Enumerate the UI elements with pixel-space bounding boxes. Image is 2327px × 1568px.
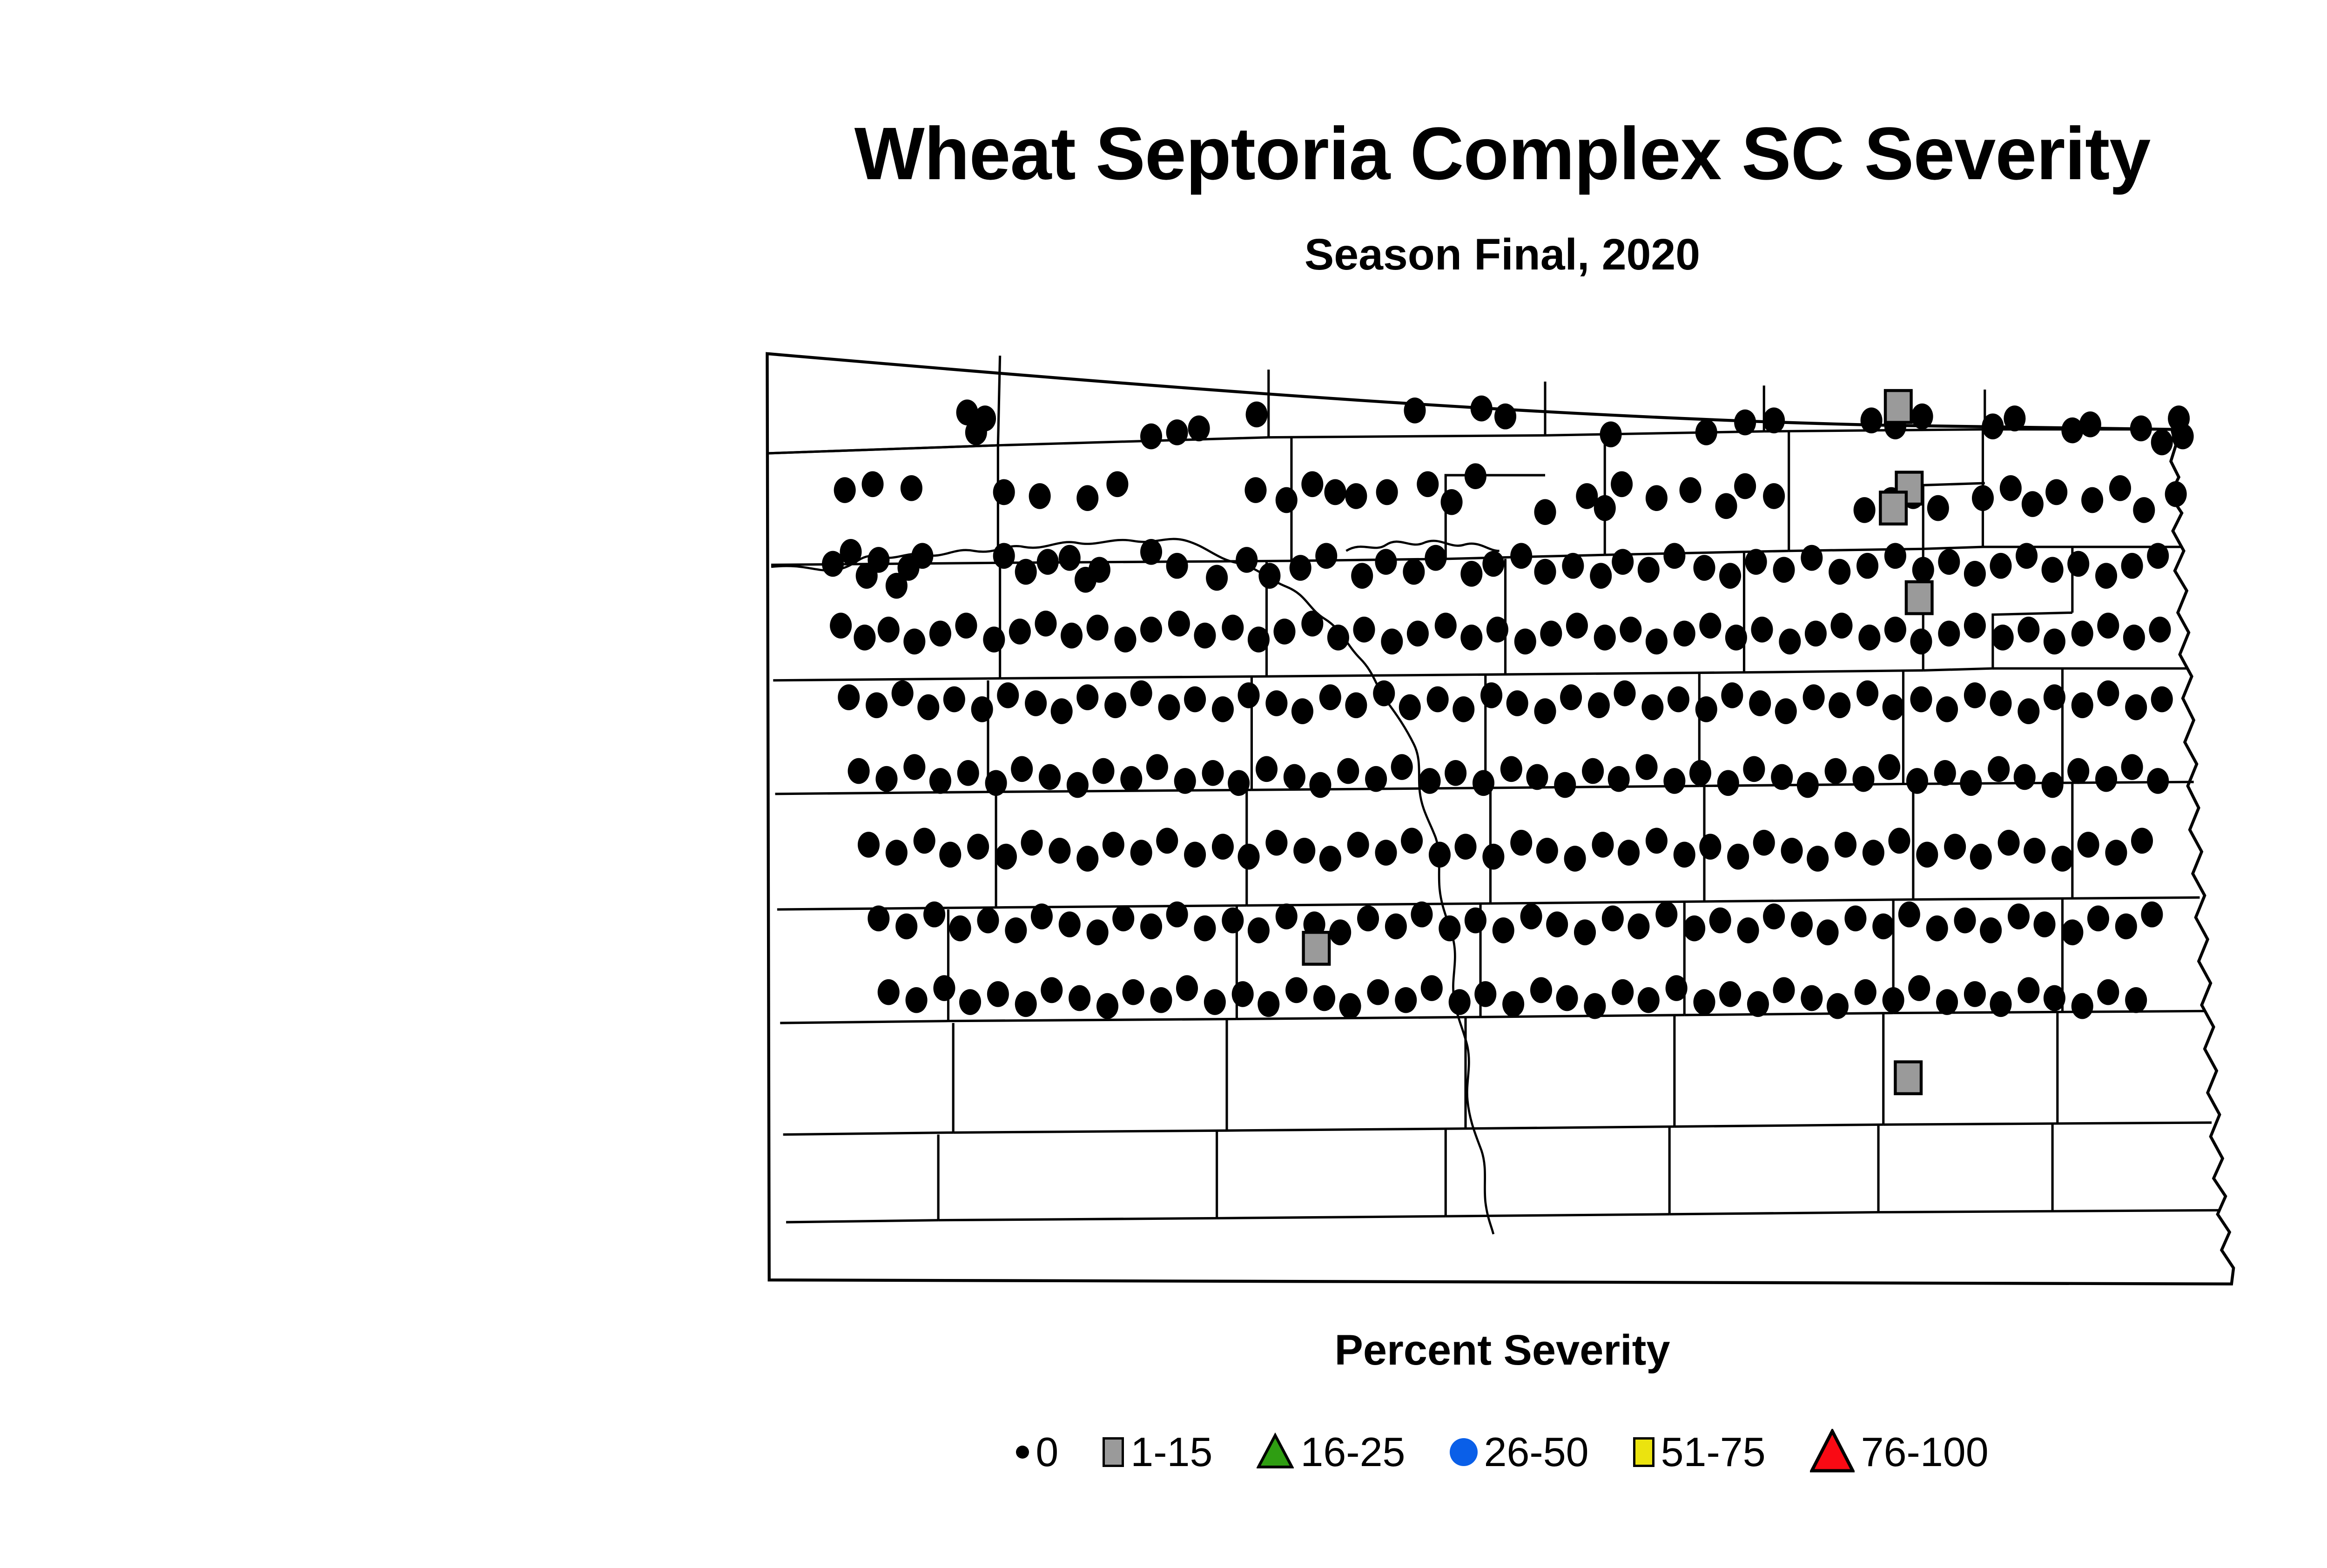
map-point-severity-0 (933, 975, 955, 1001)
map-point-severity-0 (1911, 404, 1933, 430)
map-point-severity-0 (1636, 754, 1658, 780)
map-point-severity-0 (1592, 832, 1614, 858)
map-point-severity-0 (1265, 690, 1287, 716)
map-point-severity-0 (1313, 985, 1335, 1011)
map-point-severity-0 (1104, 693, 1126, 719)
map-point-severity-0 (875, 766, 897, 792)
map-point-severity-0 (2133, 497, 2155, 523)
map-point-severity-0 (2105, 840, 2127, 866)
legend-label-16-25: 16-25 (1300, 1432, 1405, 1473)
map-point-severity-0 (1646, 485, 1668, 511)
map-point-severity-0 (1453, 696, 1474, 722)
legend-item-76-100[interactable]: 76-100 (1810, 1429, 1989, 1476)
map-point-severity-0 (929, 768, 951, 794)
map-point-severity-0 (1829, 693, 1850, 719)
map-point-severity-0 (2024, 838, 2045, 864)
map-point-severity-0 (987, 981, 1009, 1007)
map-point-severity-0 (1212, 696, 1234, 722)
map-point-severity-0 (1103, 832, 1124, 858)
map-point-severity-0 (1912, 557, 1934, 583)
map-point-severity-0 (1188, 416, 1210, 442)
map-point-severity-0 (903, 754, 925, 780)
map-point-severity-0 (1204, 989, 1226, 1015)
map-point-severity-0 (1530, 977, 1552, 1003)
map-point-severity-0 (1797, 772, 1819, 798)
map-point-severity-0 (1092, 758, 1114, 784)
map-point-severity-0 (1926, 915, 1948, 942)
map-point-severity-0 (1663, 543, 1685, 569)
map-point-severity-0 (1031, 903, 1053, 929)
map-point-severity-0 (1719, 981, 1741, 1007)
map-point-severity-0 (1140, 617, 1162, 643)
map-point-severity-0 (2081, 487, 2103, 513)
map-point-severity-0 (1964, 612, 1986, 639)
map-point-severity-0 (2022, 491, 2044, 517)
map-point-severity-0 (1594, 625, 1616, 651)
map-point-severity-0 (1781, 838, 1803, 864)
map-point-severity-0 (2151, 686, 2173, 713)
map-point-severity-0 (1763, 483, 1785, 509)
map-point-severity-0 (1988, 756, 2010, 782)
map-point-severity-0 (1011, 756, 1033, 782)
map-point-severity-0 (1695, 696, 1717, 722)
map-point-severity-0 (858, 832, 880, 858)
map-point-severity-0 (1228, 770, 1250, 796)
map-point-severity-0 (1184, 686, 1206, 713)
map-point-severity-0 (1590, 563, 1612, 589)
map-point-severity-0 (2061, 919, 2083, 945)
map-point-severity-0 (1471, 396, 1493, 422)
map-point-severity-0 (1156, 828, 1178, 854)
map-point-severity-0 (1076, 684, 1098, 710)
map-point-severity-0 (1749, 690, 1771, 716)
map-point-severity-0 (1854, 497, 1876, 523)
map-point-severity-0 (1884, 617, 1906, 643)
map-point-severity-0 (1506, 690, 1528, 716)
map-point-severity-0 (1454, 834, 1476, 860)
map-point-severity-0 (1319, 684, 1341, 710)
map-point-severity-0 (1620, 617, 1641, 643)
map-point-severity-0 (1825, 758, 1847, 784)
map-point-severity-0 (1861, 407, 1883, 433)
map-point-severity-0 (1801, 545, 1823, 571)
map-point-severity-0 (1365, 766, 1387, 792)
map-point-severity-0 (2109, 475, 2131, 501)
map-point-severity-0 (1395, 987, 1417, 1013)
map-point-severity-0 (1087, 615, 1109, 641)
map-point-severity-0 (1960, 770, 1982, 796)
map-point-severity-0 (997, 682, 1019, 708)
map-point-severity-0 (1689, 760, 1711, 786)
map-point-severity-0 (1721, 682, 1743, 708)
map-point-severity-0 (1482, 551, 1504, 577)
map-point-severity-0 (1212, 834, 1234, 860)
map-point-severity-0 (1510, 830, 1532, 856)
map-point-severity-0 (2018, 977, 2039, 1003)
map-point-severity-0 (2121, 553, 2143, 579)
map-point-severity-0 (1883, 987, 1904, 1013)
map-point-severity-0 (1514, 629, 1536, 655)
map-point-severity-0 (1737, 917, 1759, 943)
map-point-severity-0 (1041, 977, 1063, 1003)
map-point-severity-0 (1351, 563, 1373, 589)
map-point-severity-0 (906, 987, 928, 1013)
map-point-severity-0 (1417, 471, 1439, 497)
map-point-severity-0 (2016, 543, 2038, 569)
map-point-severity-0 (1473, 770, 1494, 796)
map-point-severity-0 (977, 908, 999, 934)
page-subtitle: Season Final, 2020 (0, 233, 2327, 277)
map-point-severity-0 (2044, 684, 2065, 710)
map-point-severity-0 (1641, 694, 1663, 720)
map-point-severity-0 (1663, 768, 1685, 794)
map-point-severity-0 (1166, 553, 1188, 579)
map-point-severity-0 (1998, 830, 2020, 856)
map-point-severity-0 (2097, 680, 2119, 707)
map-point-severity-0 (1385, 914, 1407, 940)
map-point-severity-0 (1222, 615, 1244, 641)
map-point-severity-0 (1646, 828, 1668, 854)
map-point-severity-0 (1465, 463, 1486, 489)
map-point-severity-0 (1037, 549, 1059, 575)
map-point-severity-0 (1106, 471, 1128, 497)
map-point-severity-0 (1910, 629, 1932, 655)
map-point-severity-0 (1168, 611, 1190, 637)
map-point-severity-0 (1938, 620, 1960, 646)
map-point-severity-0 (1293, 838, 1315, 864)
map-point-severity-0 (1376, 479, 1398, 505)
map-point-severity-0 (1844, 905, 1866, 931)
map-point-severity-0 (838, 684, 860, 710)
map-point-severity-0 (1964, 682, 1986, 708)
map-point-severity-0 (1938, 549, 1960, 575)
map-point-severity-0 (1049, 838, 1070, 864)
map-point-severity-0 (1411, 902, 1433, 928)
map-point-severity-0 (1202, 760, 1224, 786)
map-point-severity-0 (1480, 682, 1502, 708)
map-point-severity-0 (848, 758, 870, 784)
map-point-severity-0 (2042, 557, 2064, 583)
map-point-severity-0 (1944, 834, 1966, 860)
map-point-severity-0 (993, 479, 1015, 505)
map-point-severity-0 (1699, 612, 1721, 639)
map-point-severity-0 (1401, 828, 1423, 854)
map-point-severity-0 (1067, 772, 1089, 798)
legend-title: Percent Severity (0, 1329, 2327, 1372)
map-point-severity-0 (1666, 975, 1688, 1001)
map-point-severity-0 (1015, 559, 1037, 585)
map-point-severity-0 (2071, 993, 2093, 1019)
map-point-severity-0 (1123, 979, 1144, 1005)
map-point-severity-0 (1534, 698, 1556, 724)
map-point-severity-0 (1534, 499, 1556, 525)
map-point-severity-0 (1655, 902, 1677, 928)
map-point-severity-0 (1273, 619, 1295, 645)
map-point-severity-0 (2045, 479, 2067, 505)
map-point-severity-0 (1745, 549, 1767, 575)
map-point-severity-0 (1906, 768, 1928, 794)
map-point-severity-0 (1554, 772, 1576, 798)
map-point-severity-0 (903, 629, 925, 655)
map-point-severity-0 (1990, 690, 2011, 716)
legend-item-51-75[interactable]: 51-75 (1633, 1432, 1766, 1473)
map-point-severity-0 (1059, 911, 1081, 937)
legend-item-0[interactable]: 0 (1016, 1432, 1058, 1473)
map-point-severity-0 (1258, 563, 1280, 589)
map-point-severity-0 (901, 475, 922, 501)
map-point-severity-0 (1855, 979, 1876, 1005)
map-point-severity-0 (1290, 555, 1311, 581)
map-point-severity-0 (1327, 625, 1349, 651)
map-point-severity-0 (1817, 919, 1839, 945)
map-point-severity-0 (1884, 543, 1906, 569)
map-point-severity-0 (1520, 903, 1542, 929)
map-point-severity-0 (1500, 756, 1522, 782)
map-point-severity-0 (1646, 629, 1668, 655)
map-point-severity-0 (1276, 903, 1298, 929)
map-point-severity-0 (895, 914, 917, 940)
map-point-severity-0 (1534, 559, 1556, 585)
map-point-severity-0 (1301, 471, 1323, 497)
map-point-severity-0 (1582, 758, 1604, 784)
map-point-severity-0 (1775, 698, 1797, 724)
map-point-severity-0 (878, 979, 900, 1005)
map-point-severity-0 (1096, 993, 1118, 1019)
map-point-severity-0 (1194, 915, 1216, 942)
square-icon (1103, 1437, 1124, 1467)
map-point-severity-0 (1727, 844, 1749, 870)
map-point-severity-0 (957, 760, 979, 786)
map-point-severity-0 (1301, 611, 1323, 637)
map-point-severity-0 (1992, 625, 2014, 651)
map-point-severity-0 (1863, 840, 1884, 866)
map-point-severity-0 (914, 828, 935, 854)
map-point-severity-0 (1329, 919, 1351, 945)
map-point-severity-0 (959, 989, 981, 1015)
map-point-severity-0 (1039, 764, 1061, 790)
map-point-severity-0 (1560, 684, 1582, 710)
map-point-severity-1-15 (1880, 492, 1906, 524)
map-point-severity-0 (840, 539, 862, 565)
map-point-severity-0 (1399, 694, 1421, 720)
map-point-severity-0 (911, 543, 933, 569)
map-point-severity-0 (2071, 620, 2093, 646)
circle-icon (1450, 1438, 1478, 1466)
map-point-severity-0 (2147, 543, 2169, 569)
map-point-severity-0 (2165, 481, 2187, 507)
map-point-severity-0 (1009, 619, 1031, 645)
map-point-severity-0 (1140, 914, 1162, 940)
map-point-severity-0 (1256, 756, 1278, 782)
map-point-severity-0 (892, 680, 914, 707)
map-point-severity-0 (862, 471, 884, 497)
map-svg (749, 326, 2327, 1322)
map-point-severity-0 (1872, 914, 1894, 940)
map-point-severity-0 (917, 694, 939, 720)
map-point-severity-0 (1594, 495, 1616, 521)
map-point-severity-0 (2130, 416, 2152, 442)
map-point-severity-0 (1556, 985, 1578, 1011)
map-point-severity-0 (1146, 754, 1168, 780)
map-point-severity-0 (1061, 623, 1083, 649)
map-point-severity-0 (2097, 979, 2119, 1005)
map-point-severity-0 (1719, 563, 1741, 589)
map-point-severity-0 (1600, 421, 1622, 447)
map-point-severity-0 (1174, 768, 1196, 794)
map-point-severity-0 (1236, 547, 1258, 573)
map-point-severity-0 (1441, 489, 1463, 515)
legend-item-26-50[interactable]: 26-50 (1450, 1432, 1589, 1473)
map-point-severity-0 (2004, 405, 2025, 431)
map-point-severity-0 (971, 696, 993, 722)
map-point-severity-0 (995, 844, 1017, 870)
map-point-severity-0 (2095, 766, 2117, 792)
map-point-severity-0 (1936, 696, 1958, 722)
map-point-severity-0 (2115, 914, 2137, 940)
map-point-severity-0 (1140, 424, 1162, 450)
map-point-severity-0 (1972, 485, 1994, 511)
map-point-severity-0 (1546, 911, 1568, 937)
map-point-severity-0 (1051, 698, 1073, 724)
map-point-severity-0 (1089, 557, 1110, 583)
map-point-severity-0 (1076, 846, 1098, 872)
map-point-severity-0 (834, 477, 856, 503)
map-point-severity-0 (1427, 686, 1449, 713)
map-point-severity-0 (1618, 840, 1640, 866)
square-icon (1633, 1437, 1654, 1467)
map-point-severity-0 (1602, 905, 1624, 931)
map-point-severity-0 (1158, 694, 1180, 720)
map-point-severity-0 (1265, 830, 1287, 856)
map-point-severity-0 (1964, 981, 1986, 1007)
map-point-severity-0 (1574, 919, 1596, 945)
legend-label-51-75: 51-75 (1661, 1432, 1766, 1473)
map-point-severity-0 (1502, 991, 1524, 1017)
map-point-severity-0 (1829, 559, 1850, 585)
map-point-severity-0 (2000, 475, 2022, 501)
map-point-severity-0 (1421, 975, 1443, 1001)
circle-small-icon (1016, 1446, 1029, 1459)
map-point-severity-0 (1375, 840, 1397, 866)
map-point-severity-0 (2008, 903, 2030, 929)
map-point-severity-0 (1717, 770, 1739, 796)
map-point-severity-0 (1194, 623, 1216, 649)
map-point-severity-0 (2067, 758, 2089, 784)
map-point-severity-0 (2149, 617, 2171, 643)
map-point-severity-0 (1614, 680, 1635, 707)
north-dakota-map[interactable] (749, 326, 2327, 1322)
figure-root: Wheat Septoria Complex SC Severity Seaso… (0, 0, 2327, 1568)
map-point-severity-0 (1425, 545, 1446, 571)
map-point-severity-0 (1246, 402, 1268, 428)
legend-item-1-15[interactable]: 1-15 (1103, 1432, 1212, 1473)
page-title: Wheat Septoria Complex SC Severity (0, 116, 2327, 191)
map-point-severity-0 (1465, 908, 1486, 934)
map-point-severity-0 (2042, 772, 2064, 798)
map-point-severity-1-15 (1885, 390, 1911, 422)
map-point-severity-0 (1319, 846, 1341, 872)
map-point-severity-0 (2044, 629, 2065, 655)
map-point-severity-0 (2141, 902, 2163, 928)
map-point-severity-0 (1927, 495, 1949, 521)
map-point-severity-0 (1029, 483, 1051, 509)
map-point-severity-0 (2147, 768, 2169, 794)
map-point-severity-0 (1830, 612, 1852, 639)
map-point-severity-0 (2044, 985, 2065, 1011)
map-point-severity-0 (2087, 905, 2109, 931)
map-point-severity-0 (1773, 977, 1795, 1003)
map-point-severity-0 (878, 617, 900, 643)
map-point-severity-0 (1021, 830, 1043, 856)
map-point-severity-0 (1970, 844, 1992, 870)
map-point-severity-0 (866, 693, 888, 719)
map-point-severity-0 (1391, 754, 1413, 780)
map-point-severity-0 (1403, 559, 1425, 585)
map-point-severity-0 (1493, 917, 1514, 943)
map-point-severity-0 (1248, 917, 1270, 943)
map-point-severity-0 (2125, 694, 2147, 720)
legend-label-76-100: 76-100 (1861, 1432, 1989, 1473)
map-point-severity-0 (1611, 471, 1633, 497)
map-point-severity-0 (1375, 549, 1397, 575)
map-point-severity-0 (2034, 911, 2056, 937)
map-point-severity-0 (1460, 561, 1482, 587)
map-point-severity-0 (1908, 975, 1930, 1001)
map-point-severity-0 (2168, 405, 2190, 431)
map-point-severity-0 (1404, 397, 1426, 424)
map-point-severity-0 (1980, 917, 2002, 943)
map-point-severity-0 (2078, 832, 2099, 858)
map-point-severity-0 (1934, 760, 1956, 786)
map-point-severity-0 (1827, 993, 1849, 1019)
map-point-severity-0 (1743, 756, 1765, 782)
map-point-severity-0 (1309, 772, 1331, 798)
map-point-severity-0 (1238, 682, 1260, 708)
map-point-severity-0 (1166, 902, 1188, 928)
map-point-severity-0 (2051, 846, 2073, 872)
map-point-severity-0 (1315, 543, 1337, 569)
legend-item-16-25[interactable]: 16-25 (1257, 1432, 1405, 1473)
map-point-severity-0 (1683, 915, 1705, 942)
legend-label-26-50: 26-50 (1484, 1432, 1589, 1473)
map-point-severity-0 (1130, 840, 1152, 866)
map-point-severity-0 (1015, 991, 1037, 1017)
map-point-severity-0 (1076, 485, 1098, 511)
map-point-severity-0 (1324, 479, 1346, 505)
map-point-severity-0 (1526, 764, 1548, 790)
map-point-severity-0 (1176, 975, 1198, 1001)
map-point-severity-0 (868, 547, 889, 573)
map-point-severity-0 (1140, 539, 1162, 565)
map-point-severity-0 (1693, 989, 1715, 1015)
map-point-severity-0 (965, 419, 987, 445)
map-point-severity-0 (1990, 991, 2011, 1017)
map-point-severity-0 (1725, 625, 1747, 651)
map-point-severity-0 (1347, 832, 1369, 858)
map-point-severity-0 (1852, 766, 1874, 792)
map-point-severity-0 (1856, 553, 1878, 579)
map-point-severity-0 (1584, 993, 1606, 1019)
map-point-severity-0 (830, 612, 852, 639)
map-point-severity-1-15 (1895, 1062, 1921, 1093)
map-point-severity-0 (2131, 828, 2153, 854)
map-point-severity-0 (1856, 680, 1878, 707)
map-point-severity-0 (1898, 902, 1920, 928)
map-point-severity-0 (1345, 483, 1367, 509)
map-point-severity-0 (1536, 838, 1558, 864)
map-point-severity-0 (1638, 987, 1660, 1013)
map-point-severity-0 (1222, 908, 1244, 934)
